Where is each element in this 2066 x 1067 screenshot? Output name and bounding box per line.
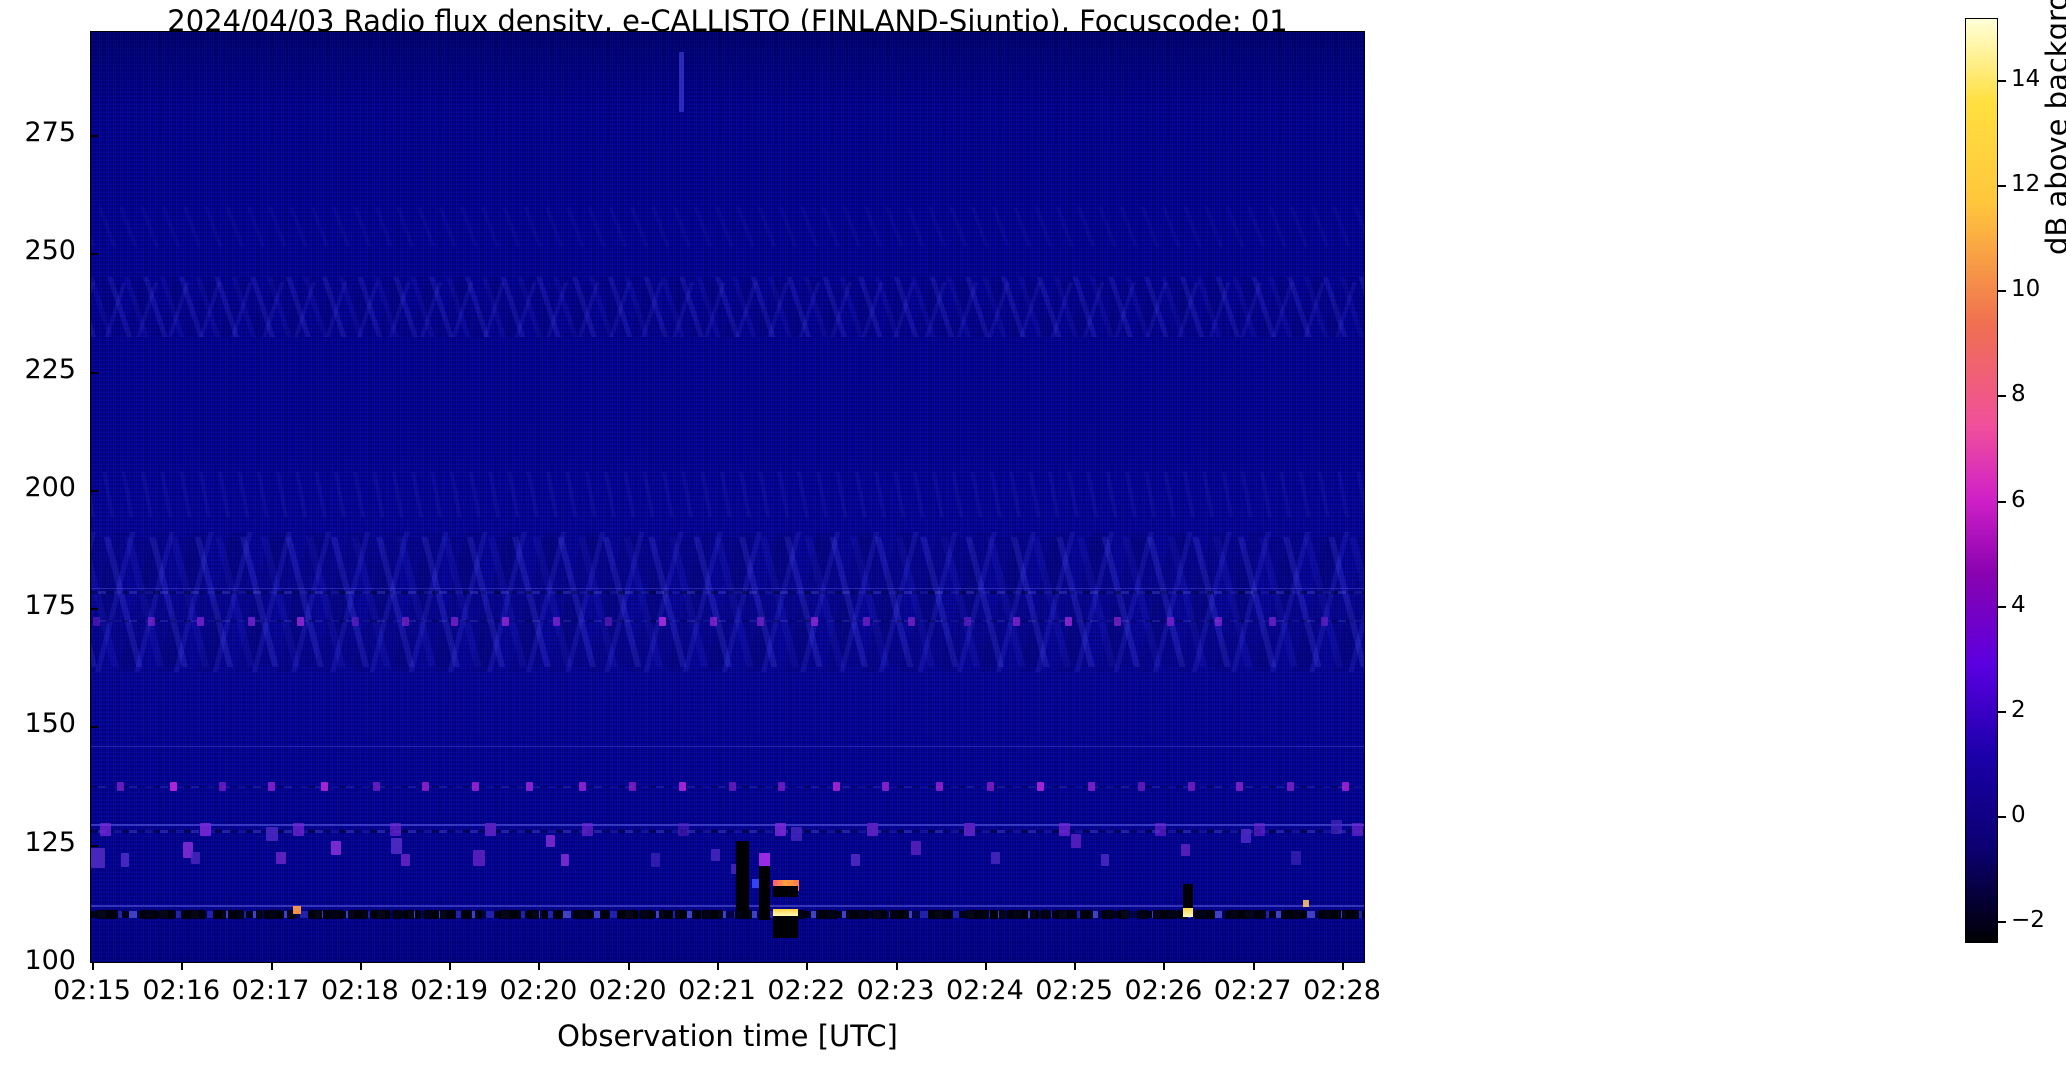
colorbar [1965,18,1998,943]
y-tick-label: 150 [0,708,76,739]
x-tick-label: 02:26 [1125,975,1203,1006]
colorbar-tick-label: −2 [2011,907,2045,933]
x-tick-label: 02:15 [53,975,131,1006]
x-tick [1253,963,1255,970]
colorbar-tick-label: 12 [2011,171,2040,197]
x-tick [181,963,183,970]
colorbar-tick [1998,80,2006,82]
colorbar-tick [1998,395,2006,397]
x-tick [628,963,630,970]
y-tick-layer [91,32,1364,962]
colorbar-tick-label: 2 [2011,697,2026,723]
spectrogram-figure: 2024/04/03 Radio flux density, e-CALLIST… [0,0,2066,1067]
y-tick-label: 125 [0,827,76,858]
x-tick [1163,963,1165,970]
x-tick [985,963,987,970]
y-tick-label: 100 [0,945,76,976]
x-tick-label: 02:21 [678,975,756,1006]
colorbar-tick-label: 4 [2011,592,2026,618]
x-tick [360,963,362,970]
y-tick [91,372,98,374]
colorbar-tick [1998,711,2006,713]
y-tick-label: 275 [0,117,76,148]
x-tick-label: 02:27 [1214,975,1292,1006]
x-tick-label: 02:19 [410,975,488,1006]
x-tick-label: 02:24 [946,975,1024,1006]
colorbar-tick-label: 0 [2011,802,2026,828]
x-tick [896,963,898,970]
spectrogram-axes [90,31,1365,963]
y-tick [91,135,98,137]
colorbar-gradient [1966,19,1997,942]
y-tick [91,253,98,255]
x-tick [449,963,451,970]
x-tick-label: 02:16 [142,975,220,1006]
colorbar-tick-label: 14 [2011,66,2040,92]
y-tick [91,726,98,728]
colorbar-tick [1998,185,2006,187]
y-tick [91,845,98,847]
colorbar-tick [1998,921,2006,923]
x-tick-label: 02:28 [1303,975,1381,1006]
x-tick-label: 02:23 [857,975,935,1006]
y-tick-label: 250 [0,235,76,266]
colorbar-tick [1998,501,2006,503]
y-tick-label: 175 [0,590,76,621]
colorbar-tick-label: 6 [2011,487,2026,513]
x-tick-label: 02:25 [1035,975,1113,1006]
x-tick [1342,963,1344,970]
y-tick [91,490,98,492]
y-tick-label: 225 [0,354,76,385]
colorbar-tick-label: 8 [2011,381,2026,407]
colorbar-tick [1998,606,2006,608]
x-tick [1074,963,1076,970]
x-tick [92,963,94,970]
x-axis-label: Observation time [UTC] [90,1019,1365,1053]
colorbar-label: dB above background [2040,0,2066,255]
colorbar-tick [1998,290,2006,292]
x-tick-label: 02:17 [232,975,310,1006]
x-tick [806,963,808,970]
colorbar-tick [1998,816,2006,818]
x-tick [271,963,273,970]
y-tick-label: 200 [0,472,76,503]
x-tick-label: 02:20 [589,975,667,1006]
x-tick [717,963,719,970]
x-tick-label: 02:22 [767,975,845,1006]
x-tick [538,963,540,970]
colorbar-tick-label: 10 [2011,276,2040,302]
y-tick [91,608,98,610]
x-tick-label: 02:18 [321,975,399,1006]
x-tick-label: 02:20 [500,975,578,1006]
